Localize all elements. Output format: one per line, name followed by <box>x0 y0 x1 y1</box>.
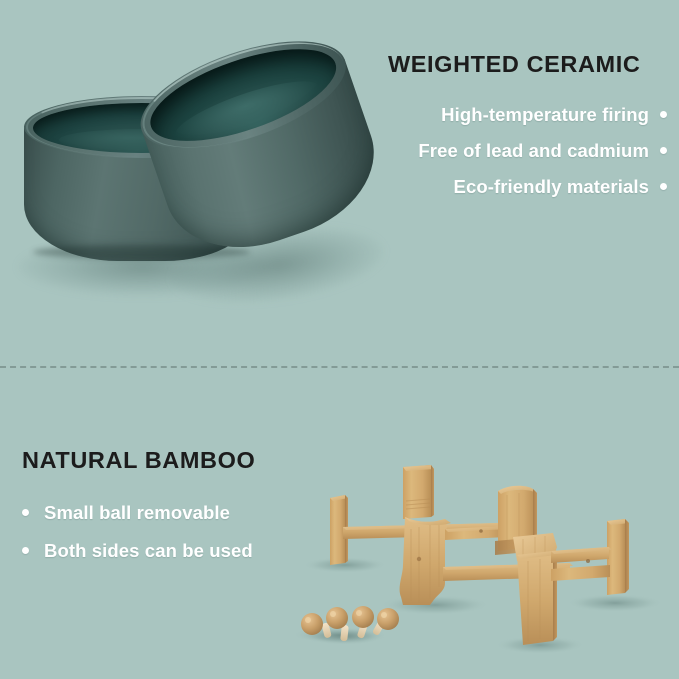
wooden-ball <box>352 606 374 628</box>
ceramic-feature-row: High-temperature firing <box>355 97 667 133</box>
bullet-dot-icon <box>660 183 667 190</box>
bamboo-stand-illustration <box>285 455 675 670</box>
bamboo-balls-group <box>292 606 399 643</box>
ceramic-feature-label: Eco-friendly materials <box>454 176 650 198</box>
bullet-dot-icon <box>22 547 29 554</box>
bamboo-text-panel: NATURAL BAMBOO Small ball removable Both… <box>22 448 322 570</box>
ceramic-feature-label: Free of lead and cadmium <box>418 140 649 162</box>
bamboo-stand-right <box>551 519 629 595</box>
bamboo-heading: NATURAL BAMBOO <box>22 448 322 474</box>
ceramic-feature-label: High-temperature firing <box>441 104 649 126</box>
product-feature-infographic: WEIGHTED CERAMIC High-temperature firing… <box>0 0 679 679</box>
bullet-dot-icon <box>22 509 29 516</box>
ceramic-feature-row: Free of lead and cadmium <box>355 133 667 169</box>
ceramic-feature-row: Eco-friendly materials <box>355 169 667 205</box>
ceramic-bowls-image <box>10 30 370 310</box>
bullet-dot-icon <box>660 147 667 154</box>
ceramic-text-panel: WEIGHTED CERAMIC High-temperature firing… <box>355 52 667 205</box>
bamboo-stand-center <box>495 486 557 561</box>
wooden-ball <box>301 613 323 635</box>
wooden-ball <box>326 607 348 629</box>
bamboo-feature-label: Both sides can be used <box>44 540 253 562</box>
ceramic-heading: WEIGHTED CERAMIC <box>388 52 667 78</box>
section-divider <box>0 366 679 368</box>
bullet-dot-icon <box>660 111 667 118</box>
bamboo-feature-row: Small ball removable <box>22 494 322 532</box>
bamboo-stand-image <box>285 455 675 670</box>
bamboo-feature-row: Both sides can be used <box>22 532 322 570</box>
wooden-ball <box>377 608 399 630</box>
bamboo-feature-label: Small ball removable <box>44 502 230 524</box>
bamboo-stand-front-leg <box>517 551 557 645</box>
